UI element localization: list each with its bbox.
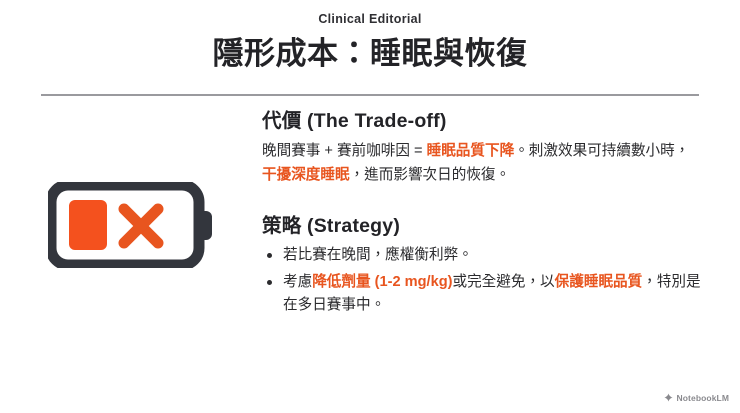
slide-body: 代價 (The Trade-off) 晚間賽事 + 賽前咖啡因 = 睡眠品質下降… <box>0 110 740 318</box>
battery-low-error-icon <box>48 182 214 268</box>
tradeoff-text-3: ，進而影響次日的恢復。 <box>350 167 511 183</box>
bullet-dot-icon <box>267 253 272 258</box>
tradeoff-highlight-2: 干擾深度睡眠 <box>262 167 350 183</box>
strategy-2-highlight-1: 降低劑量 (1-2 mg/kg) <box>312 274 452 290</box>
tradeoff-highlight-1: 睡眠品質下降 <box>427 143 515 159</box>
tradeoff-text-1: 晚間賽事 + 賽前咖啡因 = <box>262 143 427 159</box>
strategy-2-text-2: 或完全避免，以 <box>452 274 554 290</box>
tradeoff-paragraph: 晚間賽事 + 賽前咖啡因 = 睡眠品質下降。刺激效果可持續數小時，干擾深度睡眠，… <box>262 140 698 187</box>
eyebrow-label: Clinical Editorial <box>0 13 740 27</box>
icon-column <box>0 110 262 268</box>
tradeoff-text-2: 。刺激效果可持續數小時， <box>514 143 689 159</box>
content-column: 代價 (The Trade-off) 晚間賽事 + 賽前咖啡因 = 睡眠品質下降… <box>262 110 740 318</box>
notebooklm-watermark: NotebookLM <box>664 389 729 407</box>
section-heading-tradeoff: 代價 (The Trade-off) <box>262 110 710 133</box>
section-heading-strategy: 策略 (Strategy) <box>262 215 710 238</box>
slide-header: Clinical Editorial 隱形成本：睡眠與恢復 <box>0 0 740 71</box>
page-title: 隱形成本：睡眠與恢復 <box>0 36 740 72</box>
list-item: 考慮降低劑量 (1-2 mg/kg)或完全避免，以保護睡眠品質，特別是在多日賽事… <box>262 271 702 318</box>
header-divider <box>41 94 699 96</box>
notebooklm-label: NotebookLM <box>677 393 729 403</box>
notebooklm-logo-icon <box>664 389 673 407</box>
strategy-2-text-1: 考慮 <box>283 274 312 290</box>
strategy-bullet-list: 若比賽在晚間，應權衡利弊。 考慮降低劑量 (1-2 mg/kg)或完全避免，以保… <box>262 244 702 318</box>
strategy-2-highlight-2: 保護睡眠品質 <box>555 274 643 290</box>
bullet-dot-icon <box>267 280 272 285</box>
list-item: 若比賽在晚間，應權衡利弊。 <box>262 244 702 268</box>
slide-root: Clinical Editorial 隱形成本：睡眠與恢復 <box>0 0 740 413</box>
strategy-1-text-1: 若比賽在晚間，應權衡利弊。 <box>283 247 473 263</box>
